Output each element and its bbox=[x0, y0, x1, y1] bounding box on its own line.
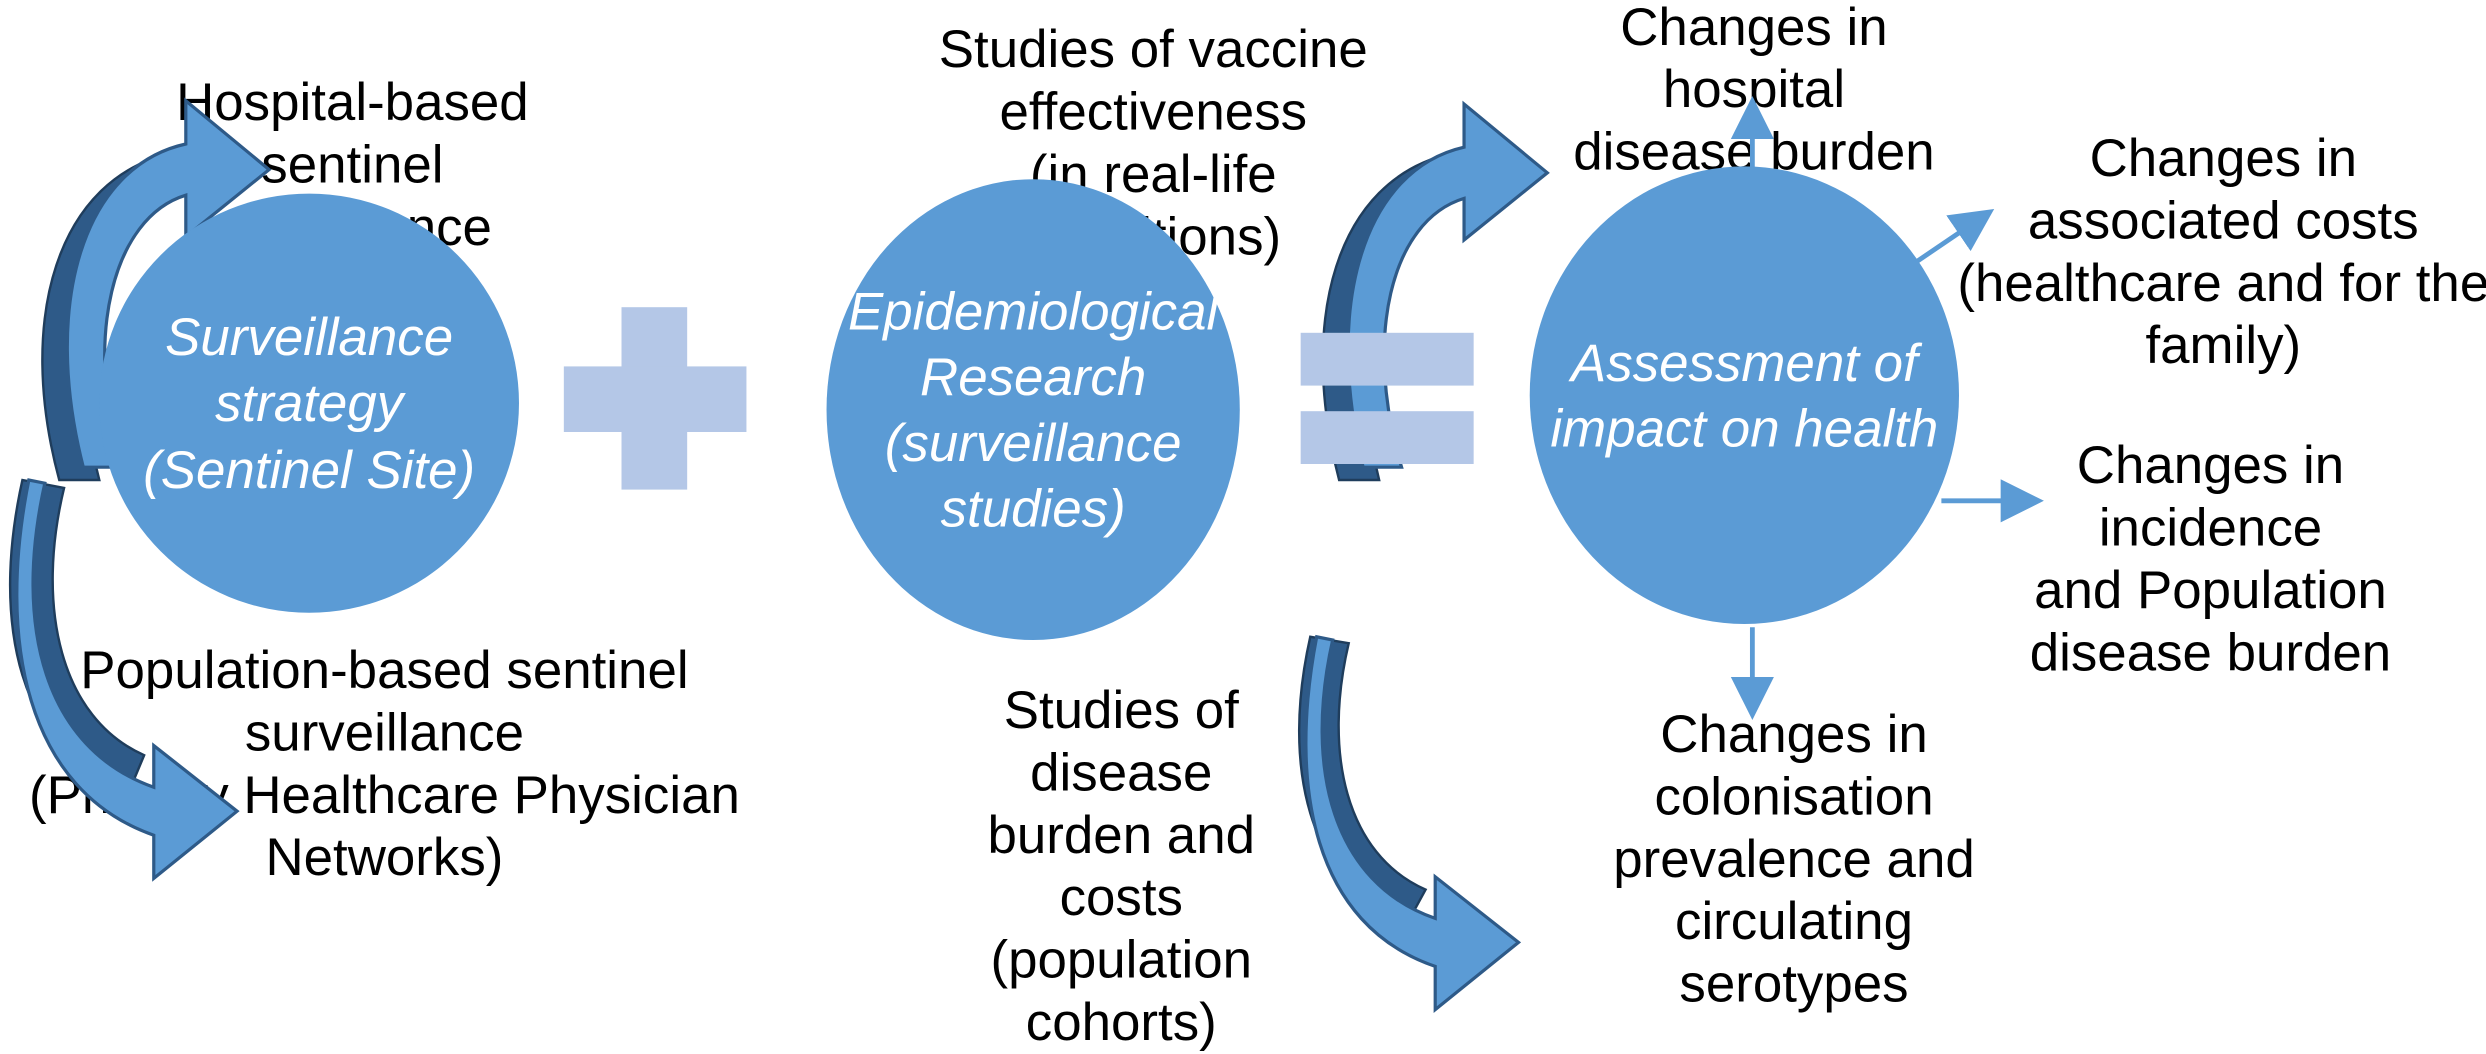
operator-plus-icon bbox=[564, 307, 747, 489]
operator-equals-icon bbox=[1301, 333, 1474, 464]
diagram-canvas: Surveillance strategy (Sentinel Site) Ep… bbox=[0, 0, 2486, 856]
node-surveillance-strategy[interactable]: Surveillance strategy (Sentinel Site) bbox=[99, 194, 519, 613]
node-surveillance-strategy-label: Surveillance strategy (Sentinel Site) bbox=[143, 304, 475, 502]
node-epidemiological-research[interactable]: Epidemiological Research (surveillance s… bbox=[827, 179, 1240, 640]
node-assessment-impact-label: Assessment of impact on health bbox=[1550, 329, 1938, 461]
node-assessment-impact[interactable]: Assessment of impact on health bbox=[1530, 166, 1959, 624]
node-epidemiological-research-label: Epidemiological Research (surveillance s… bbox=[827, 278, 1240, 542]
